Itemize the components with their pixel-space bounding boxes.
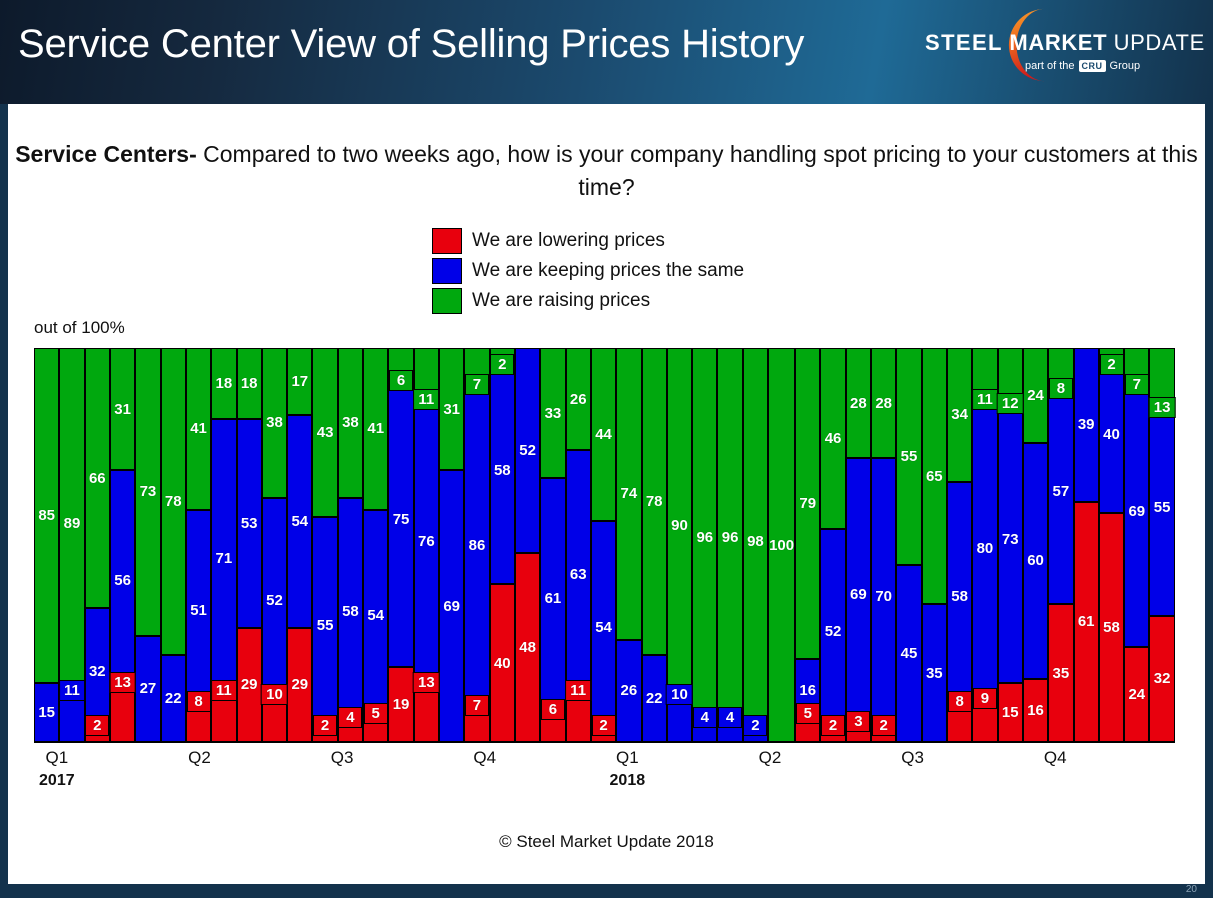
legend-item[interactable]: We are lowering prices (432, 228, 665, 254)
bar-segment-value: 58 (342, 604, 359, 619)
question-rest: Compared to two weeks ago, how is your c… (197, 141, 1198, 200)
bar-segment-value: 70 (875, 589, 892, 604)
bar-segment-value: 55 (901, 449, 918, 464)
logo-word-update: UPDATE (1114, 30, 1205, 55)
logo-word-market: MARKET (1009, 30, 1107, 55)
bar-segment-green: 33 (540, 348, 565, 478)
bar-segment-blue: 52 (515, 348, 540, 553)
bar-segment-blue: 27 (135, 636, 160, 742)
stacked-bar[interactable]: 28693 (846, 348, 871, 742)
bar-segment-red: 8 (947, 710, 972, 742)
bar-segment-green: 2 (490, 348, 515, 356)
stacked-bar[interactable]: 127315 (998, 348, 1023, 742)
bar-segment-red: 5 (795, 722, 820, 742)
bar-segment-green: 90 (667, 348, 692, 703)
bar-segment-blue: 54 (363, 510, 388, 723)
stacked-bar[interactable]: 7867 (464, 348, 489, 742)
x-axis-year-label: 2018 (610, 772, 646, 790)
legend-swatch-icon (432, 288, 462, 314)
bar-segment-value: 2 (872, 715, 896, 736)
bar-segment-value: 2 (1100, 354, 1124, 375)
bar-segment-blue: 35 (922, 604, 947, 742)
stacked-bar[interactable]: 33616 (540, 348, 565, 742)
bar-segment-blue: 69 (846, 458, 871, 730)
bar-segment-value: 38 (342, 415, 359, 430)
bar-segment-value: 65 (926, 469, 943, 484)
bar-segment-red: 16 (1023, 679, 1048, 742)
bar-segment-value: 66 (89, 471, 106, 486)
bar-segment-value: 74 (621, 486, 638, 501)
question-lead: Service Centers- (15, 141, 197, 167)
page-number: 20 (1186, 884, 1197, 895)
bar-segment-green: 38 (338, 348, 363, 498)
bar-segment-value: 2 (313, 715, 337, 736)
bar-segment-value: 12 (997, 393, 1024, 414)
chart-legend: We are lowering pricesWe are keeping pri… (8, 228, 1205, 314)
stacked-bar[interactable]: 24058 (1099, 348, 1124, 742)
stacked-bar[interactable]: 76924 (1124, 348, 1149, 742)
bar-segment-value: 32 (89, 664, 106, 679)
bar-segment-blue: 40 (1099, 356, 1124, 514)
stacked-bar[interactable]: 7426 (616, 348, 641, 742)
bar-segment-blue: 61 (540, 478, 565, 718)
bar-segment-green: 8 (1048, 348, 1073, 380)
bar-segment-value: 69 (1128, 504, 1145, 519)
bar-segment-green: 7 (464, 348, 489, 376)
cru-badge: CRU (1079, 60, 1106, 72)
bar-segment-value: 78 (165, 494, 182, 509)
x-axis-quarter-label: Q1 (39, 748, 75, 768)
bar-segment-red: 61 (1074, 502, 1099, 742)
bar-segment-blue: 22 (161, 655, 186, 742)
bar-segment-value: 4 (693, 707, 717, 728)
bar-segment-blue: 57 (1048, 380, 1073, 605)
bar-segment-green: 96 (717, 348, 742, 726)
bar-segment-value: 41 (367, 421, 384, 436)
steel-market-update-logo: STEEL MARKET UPDATE part of the CRU Grou… (905, 4, 1205, 100)
x-axis-tick: Q2 (759, 748, 782, 768)
bar-segment-green: 78 (642, 348, 667, 655)
stacked-bar[interactable]: 79165 (795, 348, 820, 742)
stacked-bar[interactable]: 135532 (1149, 348, 1174, 742)
stacked-bar[interactable]: 25840 (490, 348, 515, 742)
bar-segment-value: 61 (545, 591, 562, 606)
bar-segment-value: 18 (216, 376, 233, 391)
stacked-bar[interactable]: 41545 (363, 348, 388, 742)
x-axis-tick: Q4 (1044, 748, 1067, 768)
stacked-bar[interactable]: 3169 (439, 348, 464, 742)
bar-segment-green: 43 (312, 348, 337, 517)
bar-segment-value: 33 (545, 406, 562, 421)
bar-segment-red: 10 (262, 703, 287, 742)
bar-segment-value: 80 (977, 541, 994, 556)
stacked-bar[interactable]: 246016 (1023, 348, 1048, 742)
bar-segment-green: 78 (161, 348, 186, 655)
stacked-bar[interactable]: 34588 (947, 348, 972, 742)
bar-segment-red: 24 (1124, 647, 1149, 742)
bar-segment-green: 55 (896, 348, 921, 565)
bar-segment-value: 4 (718, 707, 742, 728)
bar-segment-red: 58 (1099, 513, 1124, 742)
bar-segment-value: 6 (541, 699, 565, 720)
bar-segment-red: 3 (846, 730, 871, 742)
bar-segment-value: 69 (443, 599, 460, 614)
bar-segment-value: 13 (413, 672, 440, 693)
bar-segment-value: 73 (140, 484, 157, 499)
bar-segment-red: 11 (566, 699, 591, 742)
bar-segment-red: 4 (338, 726, 363, 742)
bar-segment-value: 54 (367, 608, 384, 623)
x-axis-quarter-label: Q2 (759, 748, 782, 768)
x-axis-quarter-label: Q4 (1044, 748, 1067, 768)
bar-segment-value: 53 (241, 516, 258, 531)
legend-item[interactable]: We are keeping prices the same (432, 258, 744, 284)
bar-segment-value: 45 (901, 646, 918, 661)
bar-segment-value: 79 (799, 496, 816, 511)
bar-segment-value: 52 (266, 593, 283, 608)
bar-segment-value: 8 (1049, 378, 1073, 399)
bar-segment-blue: 71 (211, 419, 236, 699)
bar-segment-value: 5 (364, 703, 388, 724)
bar-segment-value: 7 (465, 374, 489, 395)
bar-segment-green: 96 (692, 348, 717, 726)
stacked-bar[interactable]: 6535 (922, 348, 947, 742)
x-axis-tick: Q3 (331, 748, 354, 768)
bar-segment-value: 11 (211, 680, 237, 701)
bar-segment-value: 52 (519, 443, 536, 458)
x-axis: Q12017Q2Q3Q4Q12018Q2Q3Q4 (34, 748, 1175, 804)
stacked-bar[interactable]: 9010 (667, 348, 692, 742)
bar-segment-blue: 4 (717, 726, 742, 742)
bar-segment-value: 55 (1154, 500, 1171, 515)
logo-tagline-suffix: Group (1110, 60, 1141, 72)
bar-segment-blue: 58 (490, 356, 515, 585)
legend-label: We are raising prices (472, 290, 650, 312)
bar-segment-green: 13 (1149, 348, 1174, 399)
bar-segment-value: 34 (951, 407, 968, 422)
bar-segment-value: 2 (743, 715, 767, 736)
bar-segment-value: 10 (261, 684, 288, 705)
stacked-bar[interactable]: 7822 (161, 348, 186, 742)
bar-segment-value: 86 (469, 538, 486, 553)
bar-segment-green: 38 (262, 348, 287, 498)
bar-segment-red: 7 (464, 714, 489, 742)
stacked-bar[interactable]: 43552 (312, 348, 337, 742)
stacked-bar[interactable]: 964 (692, 348, 717, 742)
bar-segment-green: 44 (591, 348, 616, 521)
bar-segment-green: 46 (820, 348, 845, 529)
y-axis-note: out of 100% (34, 318, 125, 338)
bar-segment-value: 31 (114, 402, 131, 417)
stacked-bar[interactable]: 85735 (1048, 348, 1073, 742)
bar-segment-red: 6 (540, 718, 565, 742)
stacked-bar[interactable]: 100 (768, 348, 795, 742)
footer-band (0, 884, 1213, 898)
stacked-bar[interactable]: 67519 (388, 348, 413, 742)
logo-tagline-prefix: part of the (1025, 60, 1075, 72)
stacked-bar[interactable]: 187111 (211, 348, 236, 742)
bar-segment-value: 35 (926, 666, 943, 681)
bar-segment-red: 5 (363, 722, 388, 742)
left-border-band (0, 104, 8, 898)
bar-segment-red: 2 (312, 734, 337, 742)
bar-segment-red: 29 (287, 628, 312, 742)
bar-segment-value: 40 (1103, 427, 1120, 442)
page-title: Service Center View of Selling Prices Hi… (18, 22, 804, 67)
bar-segment-value: 61 (1078, 614, 1095, 629)
bar-segment-value: 32 (1154, 671, 1171, 686)
x-axis-tick: Q12017 (39, 748, 75, 790)
bar-segment-value: 17 (291, 374, 308, 389)
bar-segment-value: 57 (1053, 484, 1070, 499)
bar-segment-value: 2 (490, 354, 514, 375)
bar-segment-blue: 54 (591, 521, 616, 734)
bar-segment-red: 2 (871, 734, 896, 742)
bar-segment-green: 17 (287, 348, 312, 415)
bar-segment-blue: 52 (262, 498, 287, 703)
bar-segment-blue: 39 (1074, 348, 1099, 502)
x-axis-tick: Q4 (473, 748, 496, 768)
bar-segment-green: 79 (795, 348, 820, 659)
stacked-bar[interactable]: 66322 (85, 348, 110, 742)
bar-segment-red: 2 (85, 734, 110, 742)
bar-segment-green: 41 (186, 348, 211, 510)
bar-segment-blue: 51 (186, 510, 211, 711)
bar-segment-value: 71 (216, 551, 233, 566)
bar-segment-green: 34 (947, 348, 972, 482)
bar-segment-blue: 70 (871, 458, 896, 734)
stacked-bar[interactable]: 11809 (972, 348, 997, 742)
bar-segment-value: 46 (825, 431, 842, 446)
bar-segment-value: 22 (646, 691, 663, 706)
bar-segment-green: 98 (743, 348, 768, 734)
bar-segment-value: 11 (972, 389, 998, 410)
logo-word-steel: STEEL (925, 30, 1003, 55)
stacked-bar[interactable]: 266311 (566, 348, 591, 742)
bar-segment-value: 8 (948, 691, 972, 712)
bar-segment-value: 40 (494, 656, 511, 671)
bar-segment-value: 16 (799, 683, 816, 698)
bar-segment-value: 73 (1002, 532, 1019, 547)
stacked-bar[interactable]: 38584 (338, 348, 363, 742)
bar-segment-value: 76 (418, 534, 435, 549)
bar-segment-value: 52 (825, 624, 842, 639)
bar-segment-blue: 56 (110, 470, 135, 691)
bar-segment-green: 89 (59, 348, 84, 699)
bar-segment-value: 69 (850, 587, 867, 602)
bar-segment-blue: 4 (692, 726, 717, 742)
bar-segment-value: 31 (443, 402, 460, 417)
x-axis-tick: Q3 (901, 748, 924, 768)
bar-segment-value: 27 (140, 681, 157, 696)
bar-segment-value: 43 (317, 425, 334, 440)
bar-segment-blue: 53 (237, 419, 262, 628)
bar-segment-blue: 63 (566, 450, 591, 698)
stacked-bar[interactable]: 3961 (1074, 348, 1099, 742)
stacked-bar[interactable]: 41518 (186, 348, 211, 742)
stacked-bar[interactable]: 385210 (262, 348, 287, 742)
bar-segment-red: 19 (388, 667, 413, 742)
bar-segment-value: 8 (187, 691, 211, 712)
bar-segment-green: 7 (1124, 348, 1149, 376)
stacked-bar[interactable]: 8911 (59, 348, 84, 742)
bar-segment-value: 54 (291, 514, 308, 529)
stacked-bar[interactable]: 46522 (820, 348, 845, 742)
stacked-bar[interactable]: 5248 (515, 348, 540, 742)
bar-segment-value: 11 (565, 680, 591, 701)
bar-segment-value: 63 (570, 567, 587, 582)
slide-body: Service Centers- Compared to two weeks a… (8, 104, 1205, 884)
bar-segment-value: 11 (413, 389, 439, 410)
bar-segment-red: 40 (490, 584, 515, 742)
bar-segment-blue: 55 (312, 517, 337, 734)
x-axis-tick: Q12018 (610, 748, 646, 790)
bar-segment-value: 10 (666, 684, 693, 705)
bar-segment-value: 7 (1125, 374, 1149, 395)
question-title: Service Centers- Compared to two weeks a… (8, 138, 1205, 204)
bar-segment-value: 60 (1027, 553, 1044, 568)
slide-header: Service Center View of Selling Prices Hi… (0, 0, 1213, 104)
bar-segment-value: 26 (621, 683, 638, 698)
legend-swatch-icon (432, 258, 462, 284)
stacked-bar[interactable]: 117613 (414, 348, 439, 742)
bar-segment-green: 6 (388, 348, 413, 372)
legend-label: We are lowering prices (472, 230, 665, 252)
bar-segment-value: 16 (1027, 703, 1044, 718)
bar-segment-value: 11 (59, 680, 85, 701)
bar-segment-green: 26 (566, 348, 591, 450)
bar-segment-blue: 26 (616, 640, 641, 742)
bar-segment-red: 15 (998, 683, 1023, 742)
stacked-bar[interactable]: 175429 (287, 348, 312, 742)
x-axis-quarter-label: Q1 (610, 748, 646, 768)
bar-segment-red: 9 (972, 707, 997, 742)
bar-segment-value: 100 (769, 538, 794, 553)
logo-wordmark: STEEL MARKET UPDATE (925, 30, 1205, 56)
stacked-bar[interactable]: 315613 (110, 348, 135, 742)
x-axis-quarter-label: Q3 (331, 748, 354, 768)
bar-segment-green: 66 (85, 348, 110, 608)
bar-segment-green: 28 (871, 348, 896, 458)
stacked-bar[interactable]: 5545 (896, 348, 921, 742)
bar-segment-value: 38 (266, 415, 283, 430)
x-axis-quarter-label: Q4 (473, 748, 496, 768)
bar-segment-blue: 75 (388, 372, 413, 668)
stacked-bar[interactable]: 982 (743, 348, 768, 742)
bar-segment-blue: 52 (820, 529, 845, 734)
bar-segment-blue: 69 (1124, 376, 1149, 648)
bar-segment-blue: 58 (338, 498, 363, 727)
bar-segment-value: 51 (190, 603, 207, 618)
bar-segment-blue: 76 (414, 391, 439, 690)
stacked-bar[interactable]: 44542 (591, 348, 616, 742)
bar-segment-value: 55 (317, 618, 334, 633)
bar-segment-blue: 80 (972, 391, 997, 706)
bar-segment-blue: 11 (59, 699, 84, 742)
bar-segment-value: 39 (1078, 417, 1095, 432)
bar-segment-green: 31 (439, 348, 464, 470)
bar-segment-green: 11 (972, 348, 997, 391)
x-axis-quarter-label: Q2 (188, 748, 211, 768)
bar-segment-value: 2 (821, 715, 845, 736)
slide-root: Service Center View of Selling Prices Hi… (0, 0, 1213, 898)
bar-segment-value: 13 (1149, 397, 1176, 418)
bar-segment-value: 41 (190, 421, 207, 436)
stacked-bar[interactable]: 7327 (135, 348, 160, 742)
bar-segment-value: 75 (393, 512, 410, 527)
bar-segment-blue: 10 (667, 703, 692, 742)
bar-segment-red: 32 (1149, 616, 1174, 742)
legend-item[interactable]: We are raising prices (432, 288, 650, 314)
bar-segment-value: 24 (1027, 388, 1044, 403)
bar-segment-value: 28 (850, 396, 867, 411)
bar-segment-green: 74 (616, 348, 641, 640)
bar-segment-value: 96 (696, 530, 713, 545)
bar-segment-value: 6 (389, 370, 413, 391)
x-axis-tick: Q2 (188, 748, 211, 768)
bar-segment-red: 13 (414, 691, 439, 742)
bar-segment-value: 2 (592, 715, 616, 736)
bar-segment-blue: 86 (464, 376, 489, 715)
bar-segment-blue: 69 (439, 470, 464, 742)
stacked-bar[interactable]: 185329 (237, 348, 262, 742)
bar-segment-red: 2 (591, 734, 616, 742)
bar-segment-value: 44 (595, 427, 612, 442)
bar-segment-value: 15 (38, 705, 55, 720)
stacked-bar[interactable]: 7822 (642, 348, 667, 742)
bar-segment-value: 58 (494, 463, 511, 478)
bar-segment-value: 13 (109, 672, 136, 693)
bar-segment-red: 35 (1048, 604, 1073, 742)
bar-segment-green: 12 (998, 348, 1023, 395)
bar-segment-value: 29 (291, 677, 308, 692)
bar-segment-value: 58 (951, 589, 968, 604)
bar-segment-green: 11 (414, 348, 439, 391)
legend-label: We are keeping prices the same (472, 260, 744, 282)
stacked-bar[interactable]: 964 (717, 348, 742, 742)
bar-segment-green: 2 (1099, 348, 1124, 356)
bar-segment-value: 3 (846, 711, 870, 732)
bar-segment-blue: 73 (998, 395, 1023, 683)
bar-segment-blue: 60 (1023, 443, 1048, 679)
bar-segment-blue: 58 (947, 482, 972, 711)
bar-segment-blue: 54 (287, 415, 312, 628)
bar-segment-green: 31 (110, 348, 135, 470)
stacked-bar[interactable]: 28702 (871, 348, 896, 742)
bar-segment-value: 89 (64, 516, 81, 531)
bar-segment-value: 54 (595, 620, 612, 635)
bar-segment-value: 5 (796, 703, 820, 724)
bar-segment-green: 18 (237, 348, 262, 419)
legend-swatch-icon (432, 228, 462, 254)
stacked-bar[interactable]: 8515 (34, 348, 59, 742)
copyright-text: © Steel Market Update 2018 (8, 832, 1205, 852)
bar-segment-value: 28 (875, 396, 892, 411)
bar-segment-blue: 15 (34, 683, 59, 742)
bar-segment-red: 11 (211, 699, 236, 742)
bar-segment-green: 85 (34, 348, 59, 683)
bar-segment-value: 24 (1128, 687, 1145, 702)
bar-segment-value: 58 (1103, 620, 1120, 635)
bar-segment-green: 28 (846, 348, 871, 458)
bar-segment-green: 65 (922, 348, 947, 604)
bar-segment-value: 78 (646, 494, 663, 509)
bar-segment-value: 7 (465, 695, 489, 716)
stacked-bar-plot: 8515891166322315613732778224151818711118… (34, 348, 1175, 743)
bar-segment-value: 19 (393, 697, 410, 712)
bar-segment-value: 29 (241, 677, 258, 692)
bar-segment-red: 48 (515, 553, 540, 742)
